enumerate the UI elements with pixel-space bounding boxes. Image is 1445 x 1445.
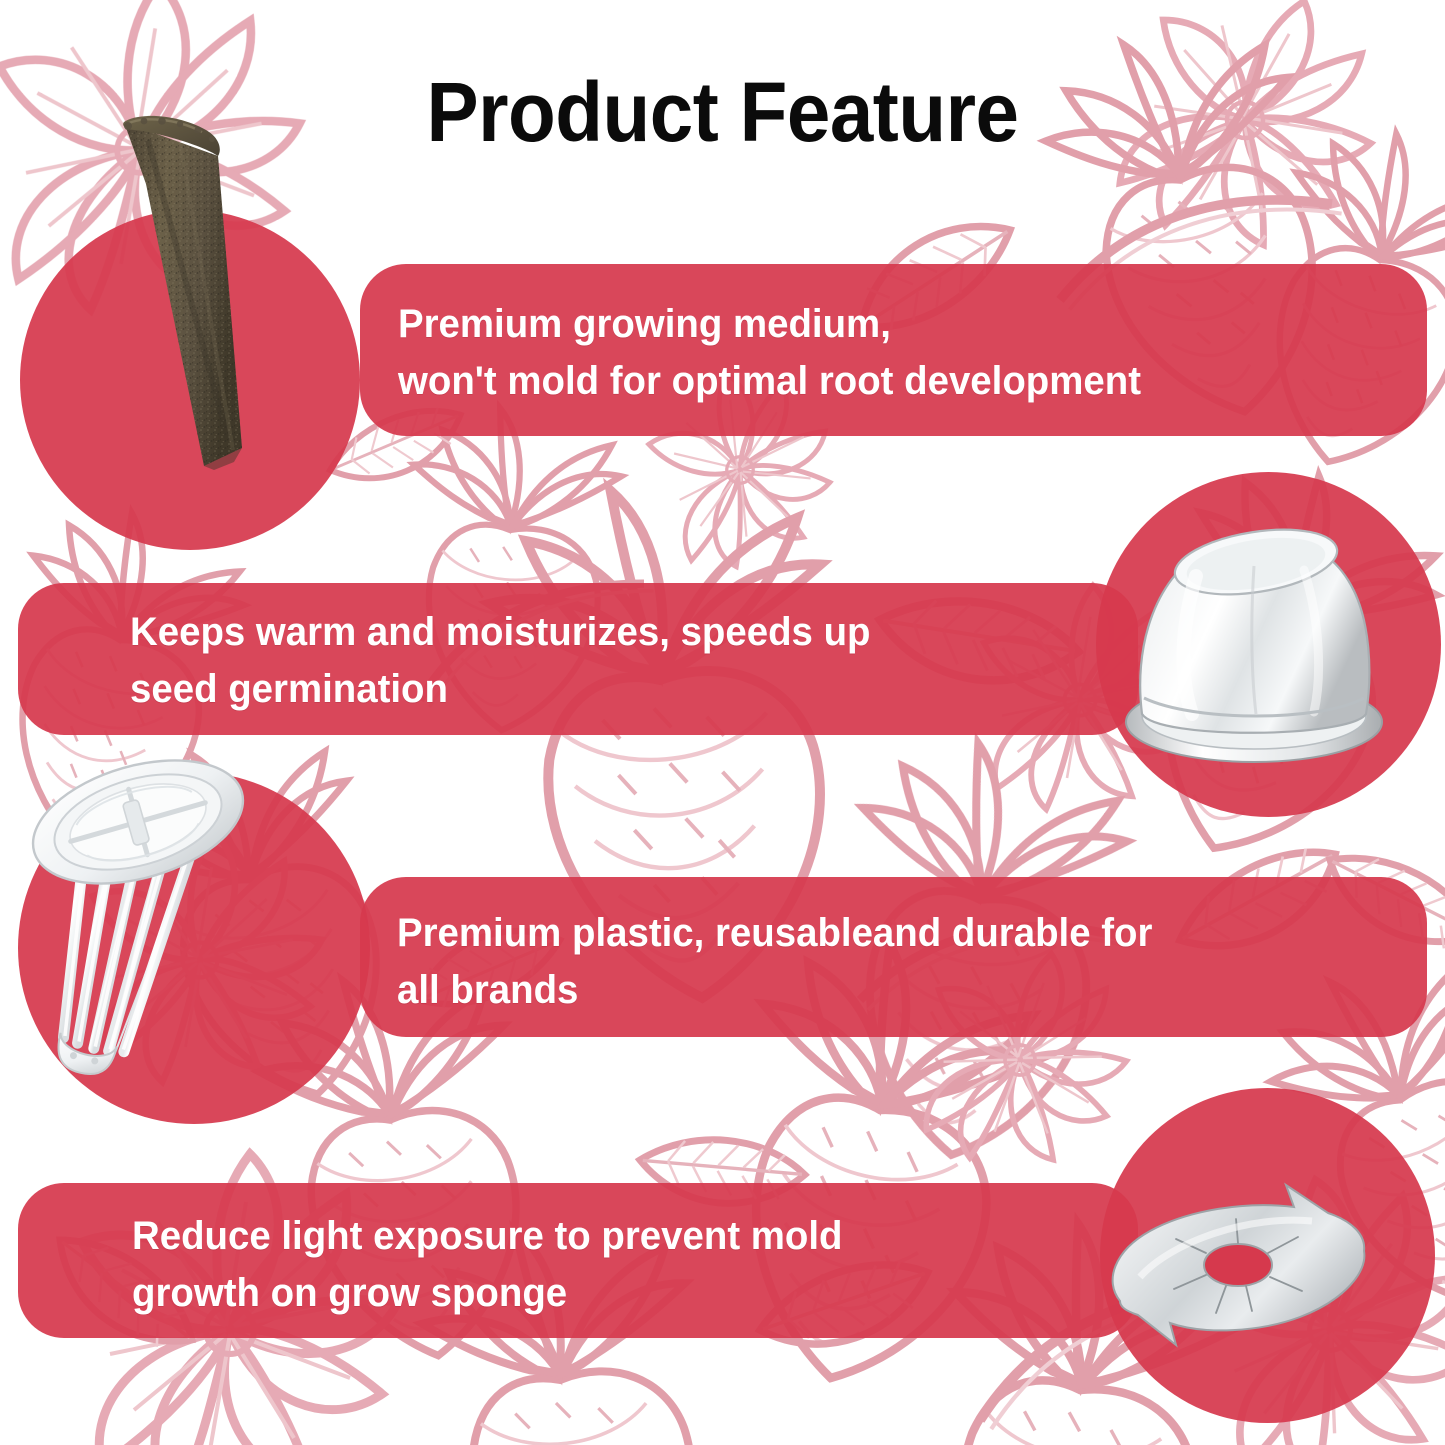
feature-3-text: Premium plastic, reusableand durable for… (397, 905, 1347, 1019)
feature-2-text: Keeps warm and moisturizes, speeds up se… (130, 604, 1052, 718)
feature-2-circle-backdrop (1096, 472, 1441, 817)
product-feature-infographic: Product Feature (0, 0, 1445, 1445)
feature-3-circle-backdrop (18, 772, 370, 1124)
feature-4-circle-backdrop (1100, 1088, 1435, 1423)
feature-1-circle-backdrop (20, 210, 360, 550)
page-title: Product Feature (51, 70, 1395, 156)
feature-4-text: Reduce light exposure to prevent mold gr… (132, 1208, 1054, 1322)
feature-1-text: Premium growing medium, won't mold for o… (398, 296, 1348, 410)
